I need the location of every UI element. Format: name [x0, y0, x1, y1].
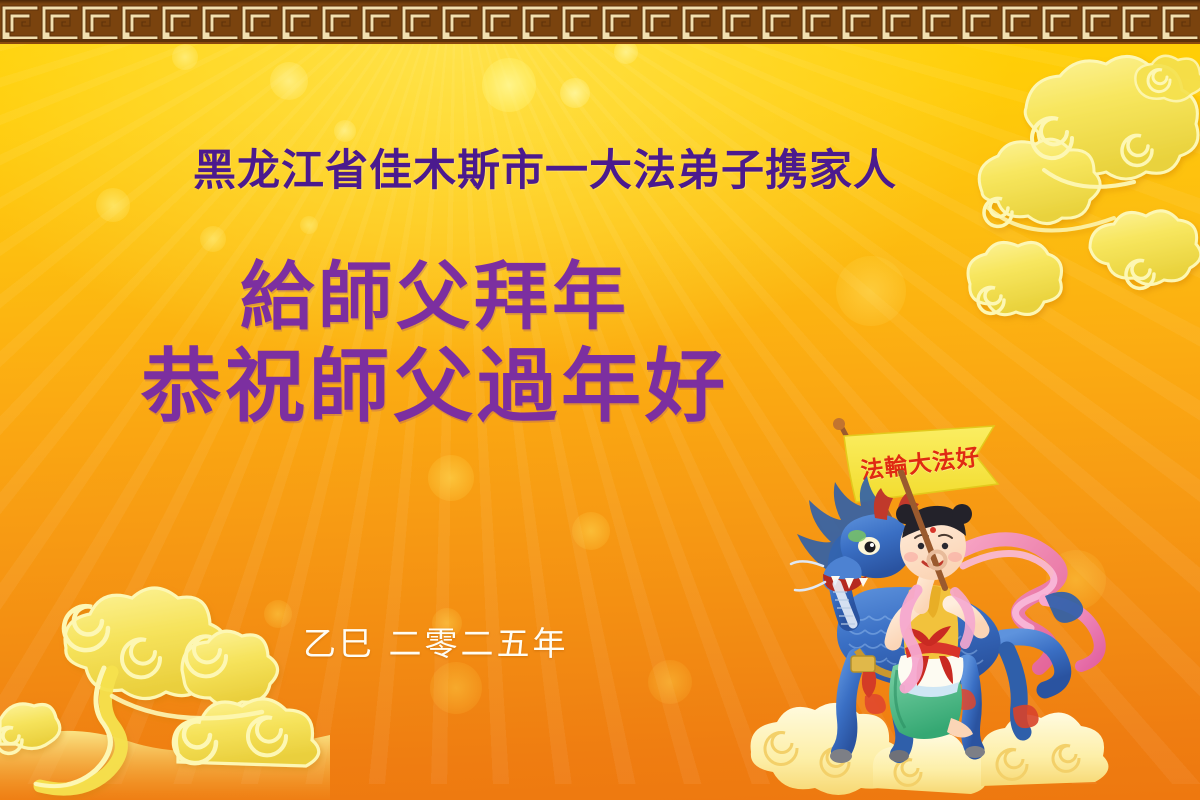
greek-key-icon [0, 0, 1200, 42]
header-line: 黑龙江省佳木斯市一大法弟子携家人 [0, 136, 1090, 198]
child-riding-dragon-illustration [745, 470, 1145, 800]
cloud-icon [1130, 44, 1200, 114]
bokeh-circle [560, 78, 590, 108]
date-line: 乙巳 二零二五年 [303, 617, 569, 665]
meander-border [0, 0, 1200, 44]
cloud-top-corner [1130, 44, 1200, 114]
bokeh-circle [200, 226, 226, 252]
greeting-line-2: 恭祝師父過年好 [0, 344, 870, 430]
greeting-block: 給師父拜年 恭祝師父過年好 [0, 258, 870, 430]
bokeh-circle [264, 600, 292, 628]
greeting-line-1: 給師父拜年 [0, 258, 870, 338]
bokeh-circle [430, 662, 482, 714]
bokeh-circle [482, 58, 536, 112]
bokeh-circle [648, 660, 692, 704]
cloud-bottom-left [0, 560, 330, 800]
bokeh-circle [270, 62, 308, 100]
bokeh-circle [300, 216, 318, 234]
bokeh-circle [172, 44, 198, 70]
cloud-icon [0, 560, 330, 800]
bokeh-circle [572, 512, 610, 550]
greeting-card: 黑龙江省佳木斯市一大法弟子携家人 給師父拜年 恭祝師父過年好 乙巳 二零二五年 … [0, 0, 1200, 800]
bokeh-circle [428, 455, 474, 501]
dragon-rider-icon [745, 470, 1145, 800]
